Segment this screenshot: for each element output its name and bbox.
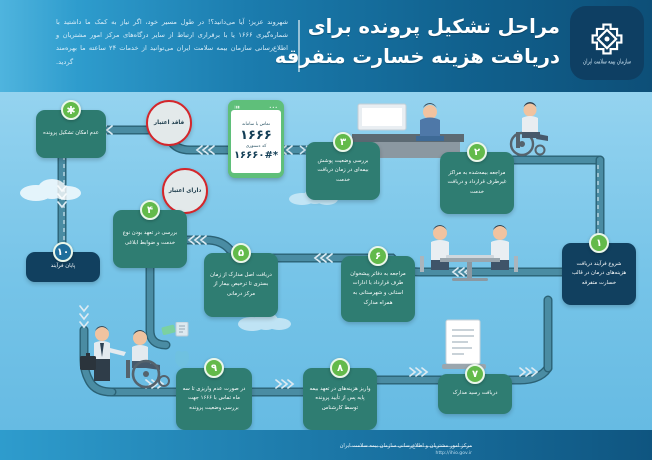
step-text-3: بررسی وضعیت پوشش بیمه‌ای در زمان دریافت …: [311, 157, 375, 186]
footer-divider: [350, 446, 472, 447]
infographic-poster: سازمان بیمه سلامت ایران مراحل تشکیل پرون…: [0, 0, 652, 460]
illustration-assistance-scene: [66, 322, 192, 392]
phone-signal-icon: ▮▮▯: [234, 105, 240, 109]
footer-url[interactable]: http://ihio.gov.ir: [436, 450, 472, 458]
status-badge-valid-label: دارای اعتبار: [169, 187, 202, 196]
hotline-phone-card: ••• ▮▮▯ تماس با سامانه ۱۶۶۶ کد دستوری *۱…: [228, 100, 284, 178]
reject-node-text: عدم امکان تشکیل پرونده: [43, 129, 99, 139]
cloud-decoration-left: [18, 176, 84, 202]
step-text-9: در صورت عدم واریزی تا سه ماه تماس با ۱۶۶…: [181, 385, 247, 414]
step-node-3[interactable]: ۳ بررسی وضعیت پوشش بیمه‌ای در زمان دریاف…: [306, 142, 380, 200]
illustration-meeting-table: [410, 222, 530, 284]
step-number-9: ۹: [204, 358, 224, 378]
step-text-5: دریافت اصل مدارک از زمان بستری تا ترخیص …: [209, 271, 273, 300]
step-node-6[interactable]: ۶ مراجعه به دفاتر پیشخوان طرف قرارداد یا…: [341, 256, 415, 322]
status-badge-valid: دارای اعتبار: [162, 168, 208, 214]
ussd-code: *۱۶۶۶۰#: [234, 150, 278, 161]
illustration-wheelchair-user-top: [500, 98, 558, 158]
step-text-6: مراجعه به دفاتر پیشخوان طرف قرارداد یا ا…: [346, 270, 410, 309]
phone-screen: تماس با سامانه ۱۶۶۶ کد دستوری *۱۶۶۶۰#: [231, 110, 281, 173]
step-number-3: ۳: [333, 132, 353, 152]
step-number-10: ۱۰: [53, 242, 73, 262]
status-badge-invalid-label: فاقد اعتبار: [154, 119, 184, 128]
step-text-8: واریز هزینه‌های در تعهد بیمه پایه پس از …: [308, 385, 372, 414]
illustration-document: [442, 318, 486, 370]
reject-node-badge-icon: ✱: [61, 100, 81, 120]
step-text-10: پایان فرآیند: [51, 262, 76, 272]
step-node-2[interactable]: ۲ مراجعه بیمه‌شده به مراکز غیرطرف قراردا…: [440, 152, 514, 214]
step-text-1: شروع فرآیند دریافت هزینه‌های درمان در قا…: [567, 260, 631, 289]
call-label: تماس با سامانه: [242, 122, 270, 127]
step-number-2: ۲: [467, 142, 487, 162]
step-number-6: ۶: [368, 246, 388, 266]
step-number-4: ۴: [140, 200, 160, 220]
status-badge-invalid: فاقد اعتبار: [146, 100, 192, 146]
reject-node[interactable]: ✱ عدم امکان تشکیل پرونده: [36, 110, 106, 158]
step-number-7: ۷: [465, 364, 485, 384]
step-node-7[interactable]: ۷ دریافت رسید مدارک: [438, 374, 512, 414]
step-node-10[interactable]: ۱۰ پایان فرآیند: [26, 252, 100, 282]
step-node-8[interactable]: ۸ واریز هزینه‌های در تعهد بیمه پایه پس ا…: [303, 368, 377, 430]
phone-dots-icon: •••: [269, 105, 278, 110]
step-text-7: دریافت رسید مدارک: [453, 389, 498, 399]
poster-footer: مرکز امور مشتریان و اطلاع‌رسانی سازمان ب…: [0, 430, 652, 460]
step-node-5[interactable]: ۵ دریافت اصل مدارک از زمان بستری تا ترخی…: [204, 253, 278, 317]
step-node-4[interactable]: ۴ بررسی در تعهد بودن نوع خدمت و ضوابط اب…: [113, 210, 187, 268]
step-number-1: ۱: [589, 233, 609, 253]
step-node-1[interactable]: ۱ شروع فرآیند دریافت هزینه‌های درمان در …: [562, 243, 636, 305]
call-number: ۱۶۶۶: [240, 128, 272, 143]
step-text-2: مراجعه بیمه‌شده به مراکز غیرطرف قرارداد …: [445, 169, 509, 198]
step-number-8: ۸: [330, 358, 350, 378]
step-number-5: ۵: [231, 243, 251, 263]
step-node-9[interactable]: ۹ در صورت عدم واریزی تا سه ماه تماس با ۱…: [176, 368, 252, 430]
ussd-label: کد دستوری: [246, 144, 267, 149]
step-text-4: بررسی در تعهد بودن نوع خدمت و ضوابط ابلا…: [118, 229, 182, 248]
